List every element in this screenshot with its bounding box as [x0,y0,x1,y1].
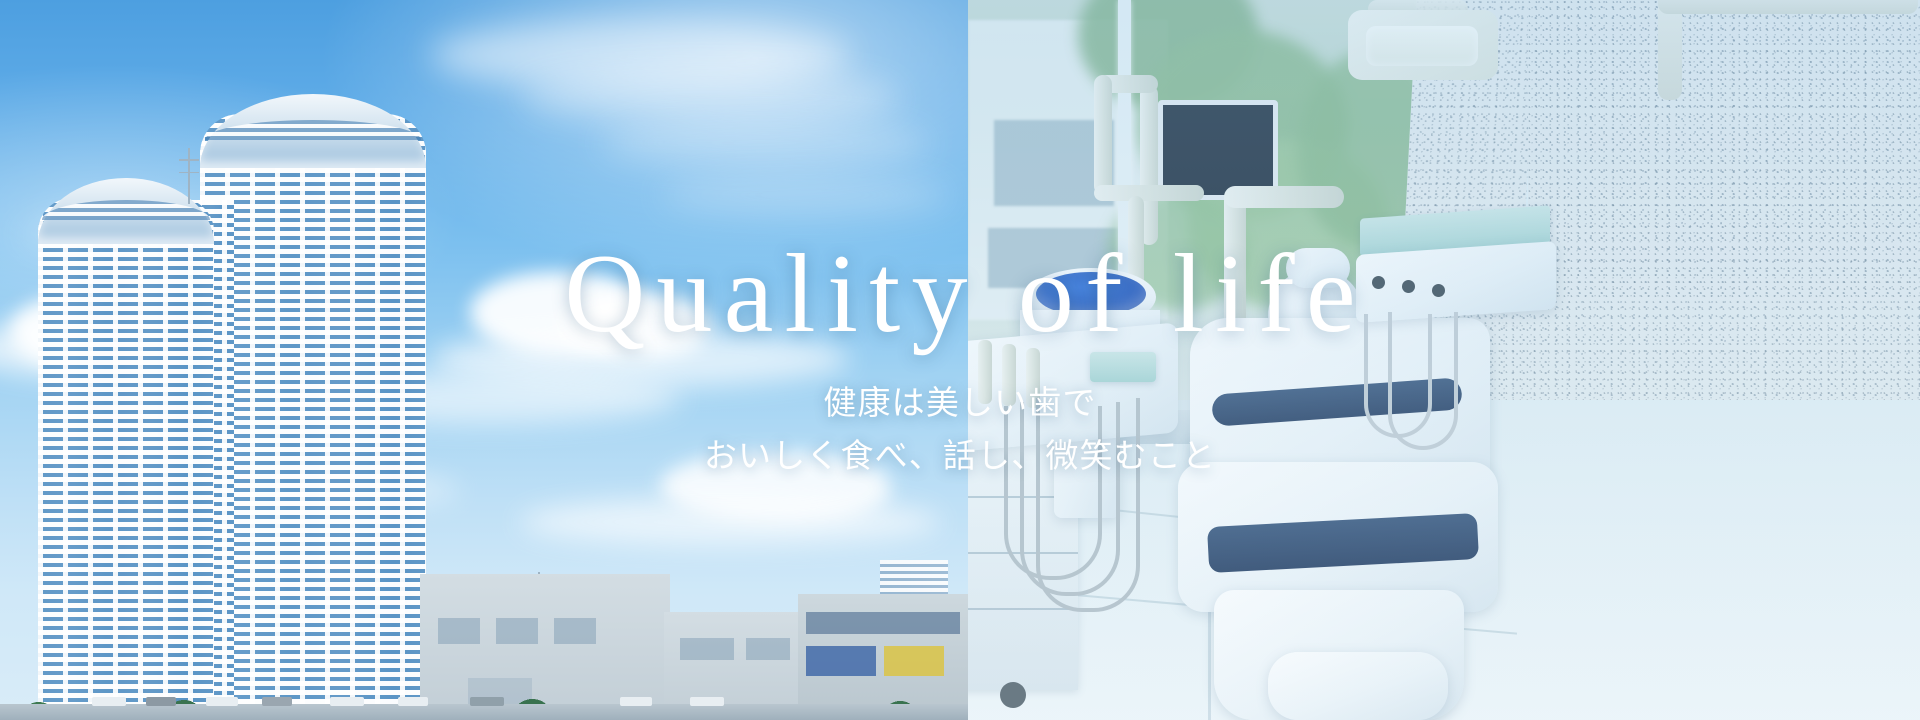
city-skyline-photo [0,0,968,720]
dental-clinic-photo [968,0,1920,720]
parked-car [690,697,724,706]
parked-car [206,697,238,706]
cloud-wisp [660,175,950,215]
building-window [496,618,538,644]
building-window [438,618,480,644]
building-window [554,618,596,644]
parked-car [92,697,126,706]
building-window [680,638,734,660]
skyscraper-tower-secondary [38,154,214,720]
parked-car [262,697,292,706]
photo-color-tint [968,0,1920,720]
parked-car [398,697,428,706]
parked-car [146,697,176,706]
building-window [746,638,790,660]
roadway [0,704,968,720]
signboard [884,646,944,676]
parked-car [620,697,652,706]
signboard [806,646,876,676]
parked-car [470,697,504,706]
cloud-wisp [520,70,900,125]
cloud-wisp [600,120,930,166]
building-window [806,612,960,634]
parked-car [330,697,364,706]
tower-ribs [38,198,214,720]
rooftop-antenna [188,148,190,204]
cloud [520,498,940,546]
hero-banner: Quality of life 健康は美しい歯で おいしく食べ、話し、微笑むこと [0,0,1920,720]
